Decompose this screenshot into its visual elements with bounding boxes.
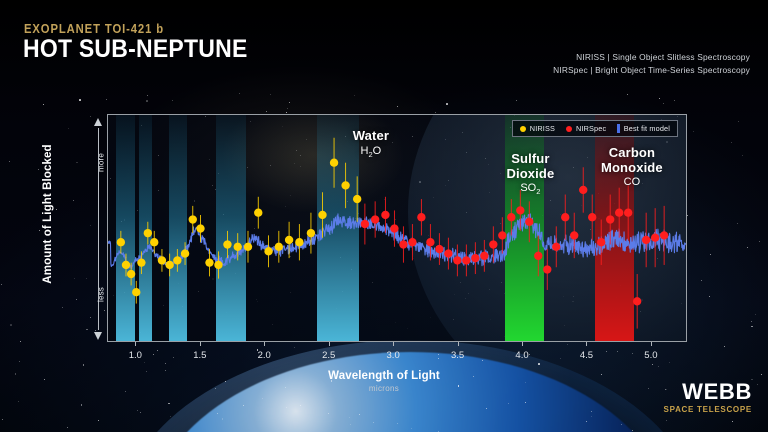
data-point[interactable] bbox=[444, 249, 452, 257]
webb-logo: WEBB SPACE TELESCOPE bbox=[664, 381, 752, 414]
data-point[interactable] bbox=[127, 270, 135, 278]
x-tick-mark bbox=[393, 342, 394, 346]
data-point[interactable] bbox=[132, 288, 140, 296]
data-point[interactable] bbox=[426, 238, 434, 246]
data-point[interactable] bbox=[361, 220, 369, 228]
data-point[interactable] bbox=[353, 195, 361, 203]
data-point[interactable] bbox=[205, 258, 213, 266]
data-point[interactable] bbox=[196, 224, 204, 232]
data-point[interactable] bbox=[122, 261, 130, 269]
data-point[interactable] bbox=[453, 256, 461, 264]
x-tick-label: 2.5 bbox=[322, 350, 335, 361]
arrow-up-icon bbox=[94, 118, 102, 126]
data-point[interactable] bbox=[471, 254, 479, 262]
data-point[interactable] bbox=[150, 238, 158, 246]
series-nirspec bbox=[361, 167, 669, 328]
data-point[interactable] bbox=[417, 213, 425, 221]
legend-label-model: Best fit model bbox=[624, 124, 670, 133]
y-axis-arrow: more less bbox=[92, 118, 104, 340]
data-point[interactable] bbox=[498, 231, 506, 239]
data-point[interactable] bbox=[214, 261, 222, 269]
data-point[interactable] bbox=[552, 243, 560, 251]
x-tick-mark bbox=[586, 342, 587, 346]
legend-item-model[interactable]: Best fit model bbox=[617, 124, 670, 133]
data-point[interactable] bbox=[234, 243, 242, 251]
y-axis-more-label: more bbox=[97, 148, 106, 178]
instrument-info: NIRISS | Single Object Slitless Spectros… bbox=[553, 51, 750, 77]
x-tick-label: 4.0 bbox=[515, 350, 528, 361]
data-point[interactable] bbox=[624, 209, 632, 217]
data-point[interactable] bbox=[651, 234, 659, 242]
legend-item-niriss[interactable]: NIRISS bbox=[520, 124, 555, 133]
instrument-line-1: NIRISS | Single Object Slitless Spectros… bbox=[553, 51, 750, 64]
data-point[interactable] bbox=[189, 215, 197, 223]
data-point[interactable] bbox=[117, 238, 125, 246]
data-point[interactable] bbox=[507, 213, 515, 221]
data-point[interactable] bbox=[480, 252, 488, 260]
data-point[interactable] bbox=[223, 240, 231, 248]
legend-label-nirspec: NIRSpec bbox=[576, 124, 606, 133]
chart-legend: NIRISS NIRSpec Best fit model bbox=[512, 120, 678, 137]
kicker-label: EXOPLANET TOI-421 b bbox=[24, 22, 164, 36]
data-point[interactable] bbox=[408, 238, 416, 246]
data-point[interactable] bbox=[330, 159, 338, 167]
webb-tagline: SPACE TELESCOPE bbox=[664, 405, 752, 414]
x-tick-label: 3.0 bbox=[387, 350, 400, 361]
data-point[interactable] bbox=[173, 256, 181, 264]
data-point[interactable] bbox=[137, 258, 145, 266]
x-tick-label: 4.5 bbox=[580, 350, 593, 361]
page-title: HOT SUB-NEPTUNE bbox=[23, 37, 248, 62]
data-point[interactable] bbox=[489, 240, 497, 248]
data-point[interactable] bbox=[399, 240, 407, 248]
data-point[interactable] bbox=[254, 209, 262, 217]
data-point[interactable] bbox=[615, 209, 623, 217]
data-point[interactable] bbox=[275, 243, 283, 251]
data-point[interactable] bbox=[660, 231, 668, 239]
data-point[interactable] bbox=[579, 186, 587, 194]
header: EXOPLANET TOI-421 b HOT SUB-NEPTUNE NIRI… bbox=[0, 0, 768, 92]
data-point[interactable] bbox=[543, 265, 551, 273]
x-axis-units: microns bbox=[0, 384, 768, 393]
x-tick-label: 1.5 bbox=[193, 350, 206, 361]
data-point[interactable] bbox=[341, 181, 349, 189]
x-axis-ticks: 1.01.52.02.53.03.54.04.55.0 bbox=[107, 342, 687, 364]
series-niriss bbox=[117, 138, 362, 304]
infographic-canvas: EXOPLANET TOI-421 b HOT SUB-NEPTUNE NIRI… bbox=[0, 0, 768, 432]
arrow-down-icon bbox=[94, 332, 102, 340]
data-point[interactable] bbox=[318, 211, 326, 219]
x-tick-mark bbox=[458, 342, 459, 346]
yellow-dot-icon bbox=[520, 126, 526, 132]
chart: WaterH2OSulfurDioxideSO2CarbonMonoxideCO… bbox=[107, 114, 687, 342]
data-point[interactable] bbox=[390, 224, 398, 232]
y-axis-less-label: less bbox=[97, 280, 106, 310]
blue-line-icon bbox=[617, 124, 620, 133]
data-point[interactable] bbox=[307, 229, 315, 237]
data-point[interactable] bbox=[144, 229, 152, 237]
spectrum-plot bbox=[108, 115, 686, 341]
data-point[interactable] bbox=[633, 297, 641, 305]
data-point[interactable] bbox=[606, 215, 614, 223]
x-tick-mark bbox=[200, 342, 201, 346]
legend-label-niriss: NIRISS bbox=[530, 124, 555, 133]
x-tick-label: 3.5 bbox=[451, 350, 464, 361]
data-point[interactable] bbox=[158, 256, 166, 264]
data-point[interactable] bbox=[525, 218, 533, 226]
x-axis-title-wrap: Wavelength of Light microns bbox=[0, 370, 768, 393]
instrument-line-2: NIRSpec | Bright Object Time-Series Spec… bbox=[553, 64, 750, 77]
data-point[interactable] bbox=[435, 245, 443, 253]
data-point[interactable] bbox=[285, 236, 293, 244]
data-point[interactable] bbox=[570, 231, 578, 239]
data-point[interactable] bbox=[642, 236, 650, 244]
data-point[interactable] bbox=[462, 256, 470, 264]
x-tick-mark bbox=[264, 342, 265, 346]
x-tick-mark bbox=[135, 342, 136, 346]
data-point[interactable] bbox=[597, 238, 605, 246]
data-point[interactable] bbox=[165, 261, 173, 269]
data-point[interactable] bbox=[264, 247, 272, 255]
data-point[interactable] bbox=[181, 249, 189, 257]
plot-frame bbox=[107, 114, 687, 342]
legend-item-nirspec[interactable]: NIRSpec bbox=[566, 124, 606, 133]
x-axis-title: Wavelength of Light bbox=[0, 370, 768, 382]
webb-wordmark: WEBB bbox=[664, 381, 752, 403]
y-axis-title-wrap: Amount of Light Blocked bbox=[28, 122, 48, 334]
plot-area bbox=[108, 115, 686, 341]
data-point[interactable] bbox=[516, 206, 524, 214]
red-dot-icon bbox=[566, 126, 572, 132]
data-point[interactable] bbox=[295, 238, 303, 246]
data-point[interactable] bbox=[244, 243, 252, 251]
x-tick-mark bbox=[651, 342, 652, 346]
x-tick-mark bbox=[329, 342, 330, 346]
data-point[interactable] bbox=[561, 213, 569, 221]
x-tick-label: 1.0 bbox=[129, 350, 142, 361]
x-tick-mark bbox=[522, 342, 523, 346]
x-tick-label: 2.0 bbox=[258, 350, 271, 361]
x-tick-label: 5.0 bbox=[644, 350, 657, 361]
data-point[interactable] bbox=[534, 252, 542, 260]
data-point[interactable] bbox=[588, 213, 596, 221]
data-point[interactable] bbox=[381, 211, 389, 219]
y-axis-title: Amount of Light Blocked bbox=[42, 114, 54, 314]
data-point[interactable] bbox=[371, 215, 379, 223]
